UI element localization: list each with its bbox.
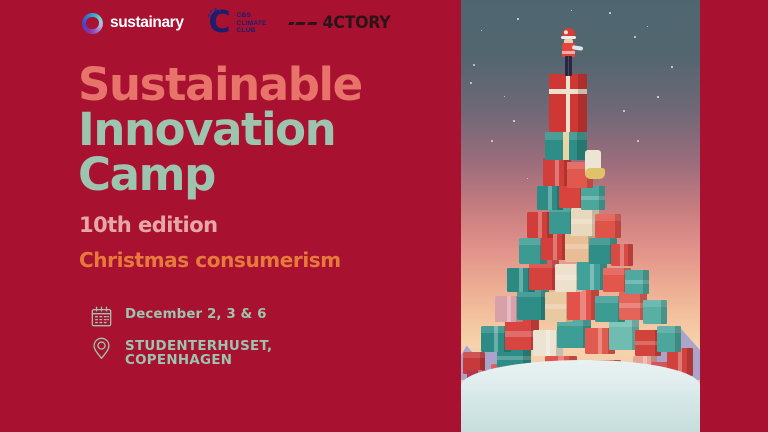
event-location-row: STUDENTERHUSET, COPENHAGEN xyxy=(89,336,272,367)
logo-sustainary-label: sustainary xyxy=(110,15,184,31)
gift-box xyxy=(657,326,681,352)
cbs-line-1: CBS xyxy=(237,12,267,19)
cbs-climate-club-wordmark: CBS CLIMATE CLUB xyxy=(237,11,267,34)
gift-box xyxy=(581,186,605,210)
cbs-c-monogram-icon: C xyxy=(209,9,234,37)
stocking-toe xyxy=(585,168,605,179)
event-location-text: STUDENTERHUSET, COPENHAGEN xyxy=(125,336,272,367)
gift-box xyxy=(545,132,587,160)
theme-label: Christmas consumerism xyxy=(79,248,341,272)
event-date-row: December 2, 3 & 6 xyxy=(89,304,272,329)
headline-line-2: Innovation xyxy=(78,107,448,152)
cbs-line-3: CLUB xyxy=(237,27,267,34)
santa-figure xyxy=(556,28,582,76)
event-location-line-1: STUDENTERHUSET, xyxy=(125,340,272,354)
location-pin-icon xyxy=(89,336,114,361)
calendar-icon xyxy=(89,304,114,329)
event-date-text: December 2, 3 & 6 xyxy=(125,304,267,322)
christmas-gift-pile-illustration xyxy=(461,0,700,432)
gift-box xyxy=(611,244,633,266)
logo-bar: sustainary C CBS CLIMATE CLUB xyxy=(82,8,393,38)
cbs-line-2: CLIMATE xyxy=(237,20,267,27)
gift-box xyxy=(643,300,667,324)
edition-label: 10th edition xyxy=(79,213,218,237)
logo-sustainary[interactable]: sustainary xyxy=(82,13,184,34)
headline-line-1: Sustainable xyxy=(78,62,448,107)
slashes-icon xyxy=(289,22,317,25)
ring-logo-icon xyxy=(82,13,103,34)
poster-canvas: sustainary C CBS CLIMATE CLUB xyxy=(0,0,768,432)
page-title: Sustainable Innovation Camp xyxy=(78,62,448,197)
headline-line-3: Camp xyxy=(78,152,448,197)
gift-box xyxy=(595,214,621,238)
gift-box-top xyxy=(549,74,587,132)
gift-box xyxy=(625,270,649,294)
event-location-line-2: COPENHAGEN xyxy=(125,354,272,368)
event-details: December 2, 3 & 6 STUDENTERHUSET, COPENH… xyxy=(89,304,272,367)
logo-cbs-climate-club[interactable]: C CBS CLIMATE CLUB xyxy=(209,9,267,37)
logo-4ctory-label: 4CTORY xyxy=(322,15,390,32)
snow-ground-foreground xyxy=(461,390,700,432)
logo-4ctory[interactable]: 4CTORY xyxy=(289,15,393,32)
santa-legs xyxy=(565,56,572,76)
